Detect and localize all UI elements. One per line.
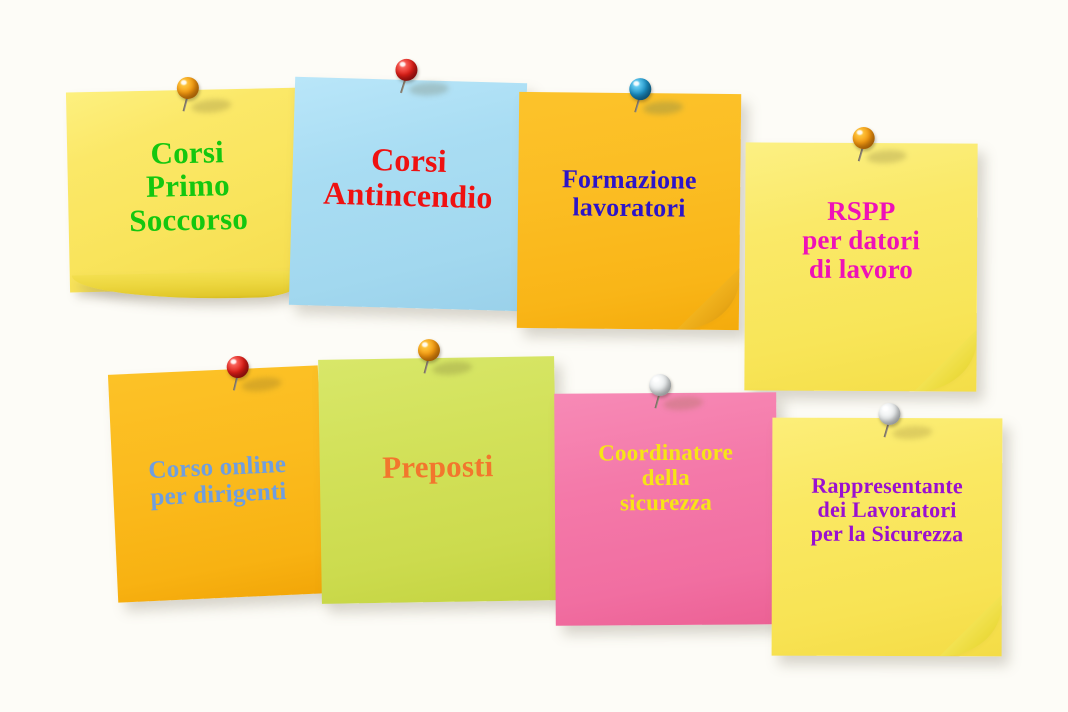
pushpin-blue-icon[interactable] bbox=[624, 77, 670, 123]
sticky-note-rspp[interactable]: RSPP per datori di lavoro bbox=[744, 142, 977, 391]
note-corner-curl bbox=[677, 268, 740, 331]
sticky-note-corso-online-dirigenti[interactable]: Corso online per dirigenti bbox=[108, 365, 328, 602]
pin-head bbox=[878, 403, 900, 425]
note-corner-curl bbox=[940, 594, 1002, 656]
pin-head bbox=[853, 127, 875, 149]
pin-head bbox=[177, 77, 199, 99]
pushpin-orange-icon[interactable] bbox=[172, 75, 219, 122]
sticky-note-primo-soccorso[interactable]: Corsi Primo Soccorso bbox=[66, 88, 310, 293]
sticky-note-preposti[interactable]: Preposti bbox=[318, 356, 558, 604]
pushpin-red-icon[interactable] bbox=[221, 354, 269, 402]
sticky-note-coordinatore-sicurezza[interactable]: Coordinatore della sicurezza bbox=[554, 392, 778, 626]
sticky-note-formazione-lavoratori[interactable]: Formazione lavoratori bbox=[517, 92, 741, 330]
pin-head bbox=[629, 78, 651, 100]
note-paper bbox=[318, 356, 558, 604]
pin-head bbox=[226, 355, 249, 378]
pin-head bbox=[418, 339, 440, 361]
pushpin-orange-icon[interactable] bbox=[847, 126, 893, 172]
note-bottom-curl bbox=[72, 270, 310, 301]
note-paper bbox=[108, 365, 328, 602]
sticky-notes-board: Corsi Primo Soccorso Corsi Antincendio F… bbox=[0, 0, 1068, 712]
pin-head bbox=[395, 59, 418, 82]
pin-head bbox=[649, 374, 671, 396]
pushpin-white-icon[interactable] bbox=[644, 373, 690, 419]
note-paper bbox=[554, 392, 778, 626]
pushpin-orange-icon[interactable] bbox=[413, 338, 460, 385]
sticky-note-rls[interactable]: Rappresentante dei Lavoratori per la Sic… bbox=[772, 418, 1003, 657]
pushpin-red-icon[interactable] bbox=[390, 57, 437, 104]
pushpin-white-icon[interactable] bbox=[873, 402, 919, 448]
note-paper bbox=[289, 77, 527, 311]
sticky-note-antincendio[interactable]: Corsi Antincendio bbox=[289, 77, 527, 311]
note-corner-curl bbox=[914, 329, 976, 391]
